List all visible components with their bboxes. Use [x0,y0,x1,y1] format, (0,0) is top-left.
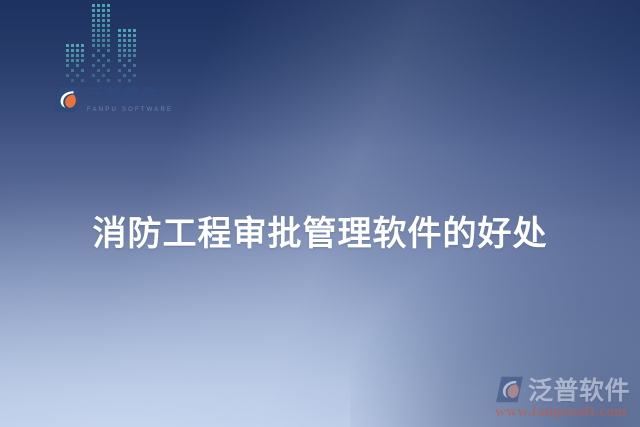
watermark-logo-row: 泛普软件 [494,371,634,407]
fanpu-hexagon-swoosh-icon [494,375,525,404]
page-title: 消防工程审批管理软件的好处 [0,206,640,255]
city-skyline-icon [66,28,142,82]
skyline-building-mid [92,4,112,82]
watermark: 泛普软件 www.fanpusoft.com [494,371,634,421]
brand-logo-text: 泛普软件 FANPU SOFTWARE [87,87,173,113]
brand-name-en: FANPU SOFTWARE [87,107,173,113]
skyline-building-left [66,44,86,82]
slide-canvas: 泛普软件 FANPU SOFTWARE 消防工程审批管理软件的好处 泛普软件 w… [0,0,640,427]
fanpu-hexagon-swoosh-icon [52,86,82,113]
brand-name-cn: 泛普软件 [87,87,173,104]
watermark-url: www.fanpusoft.com [495,404,634,421]
skyline-building-right [118,29,138,82]
watermark-brand-name: 泛普软件 [528,371,630,407]
brand-logo: 泛普软件 FANPU SOFTWARE [52,86,173,113]
